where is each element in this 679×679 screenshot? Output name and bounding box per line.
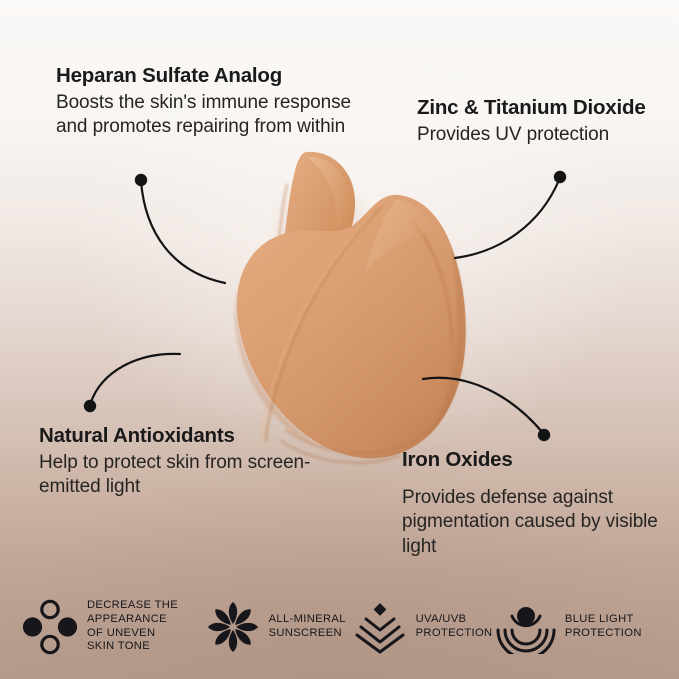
callout-title: Natural Antioxidants (39, 424, 329, 448)
callout-natural-antioxidants: Natural Antioxidants Help to protect ski… (39, 424, 329, 500)
callout-body: Provides defense against pigmentation ca… (402, 486, 662, 560)
badge-label: UVA/UVB PROTECTION (416, 613, 493, 641)
callout-heparan-sulfate-analog: Heparan Sulfate Analog Boosts the skin's… (56, 64, 356, 140)
connector-line-antioxidants (90, 354, 180, 405)
badge-decrease-uneven-skin-tone: DECREASE THE APPEARANCE OF UNEVEN SKIN T… (22, 599, 206, 655)
ingredient-infographic: Heparan Sulfate Analog Boosts the skin's… (0, 0, 679, 679)
feature-badge-bar: DECREASE THE APPEARANCE OF UNEVEN SKIN T… (0, 574, 679, 679)
radiating-waves-icon (496, 600, 556, 654)
four-circles-icon (22, 599, 78, 655)
callout-title: Heparan Sulfate Analog (56, 64, 356, 88)
flower-petal-icon (206, 600, 260, 654)
callout-body: Provides UV protection (417, 123, 667, 148)
connector-dot-heparan (135, 174, 147, 186)
callout-body: Boosts the skin's immune response and pr… (56, 91, 356, 140)
connector-dot-iron (538, 429, 550, 441)
callout-iron-oxides: Iron Oxides Provides defense against pig… (402, 448, 662, 560)
badge-label: BLUE LIGHT PROTECTION (565, 613, 642, 641)
callout-title: Iron Oxides (402, 448, 662, 472)
badge-uva-uvb-protection: UVA/UVB PROTECTION (353, 600, 496, 654)
connector-dot-antioxidants (84, 400, 96, 412)
callout-zinc-titanium-dioxide: Zinc & Titanium Dioxide Provides UV prot… (417, 96, 667, 147)
connector-line-heparan (141, 181, 225, 283)
chevron-rays-icon (353, 600, 407, 654)
callout-title: Zinc & Titanium Dioxide (417, 96, 667, 120)
callout-body: Help to protect skin from screen-emitted… (39, 451, 329, 500)
connector-line-zinc (455, 180, 559, 258)
badge-blue-light-protection: BLUE LIGHT PROTECTION (496, 600, 657, 654)
badge-label: DECREASE THE APPEARANCE OF UNEVEN SKIN T… (87, 599, 178, 655)
connector-dot-zinc (554, 171, 566, 183)
badge-label: ALL-MINERAL SUNSCREEN (269, 613, 346, 641)
connector-line-iron (423, 378, 543, 433)
badge-all-mineral-sunscreen: ALL-MINERAL SUNSCREEN (206, 600, 353, 654)
